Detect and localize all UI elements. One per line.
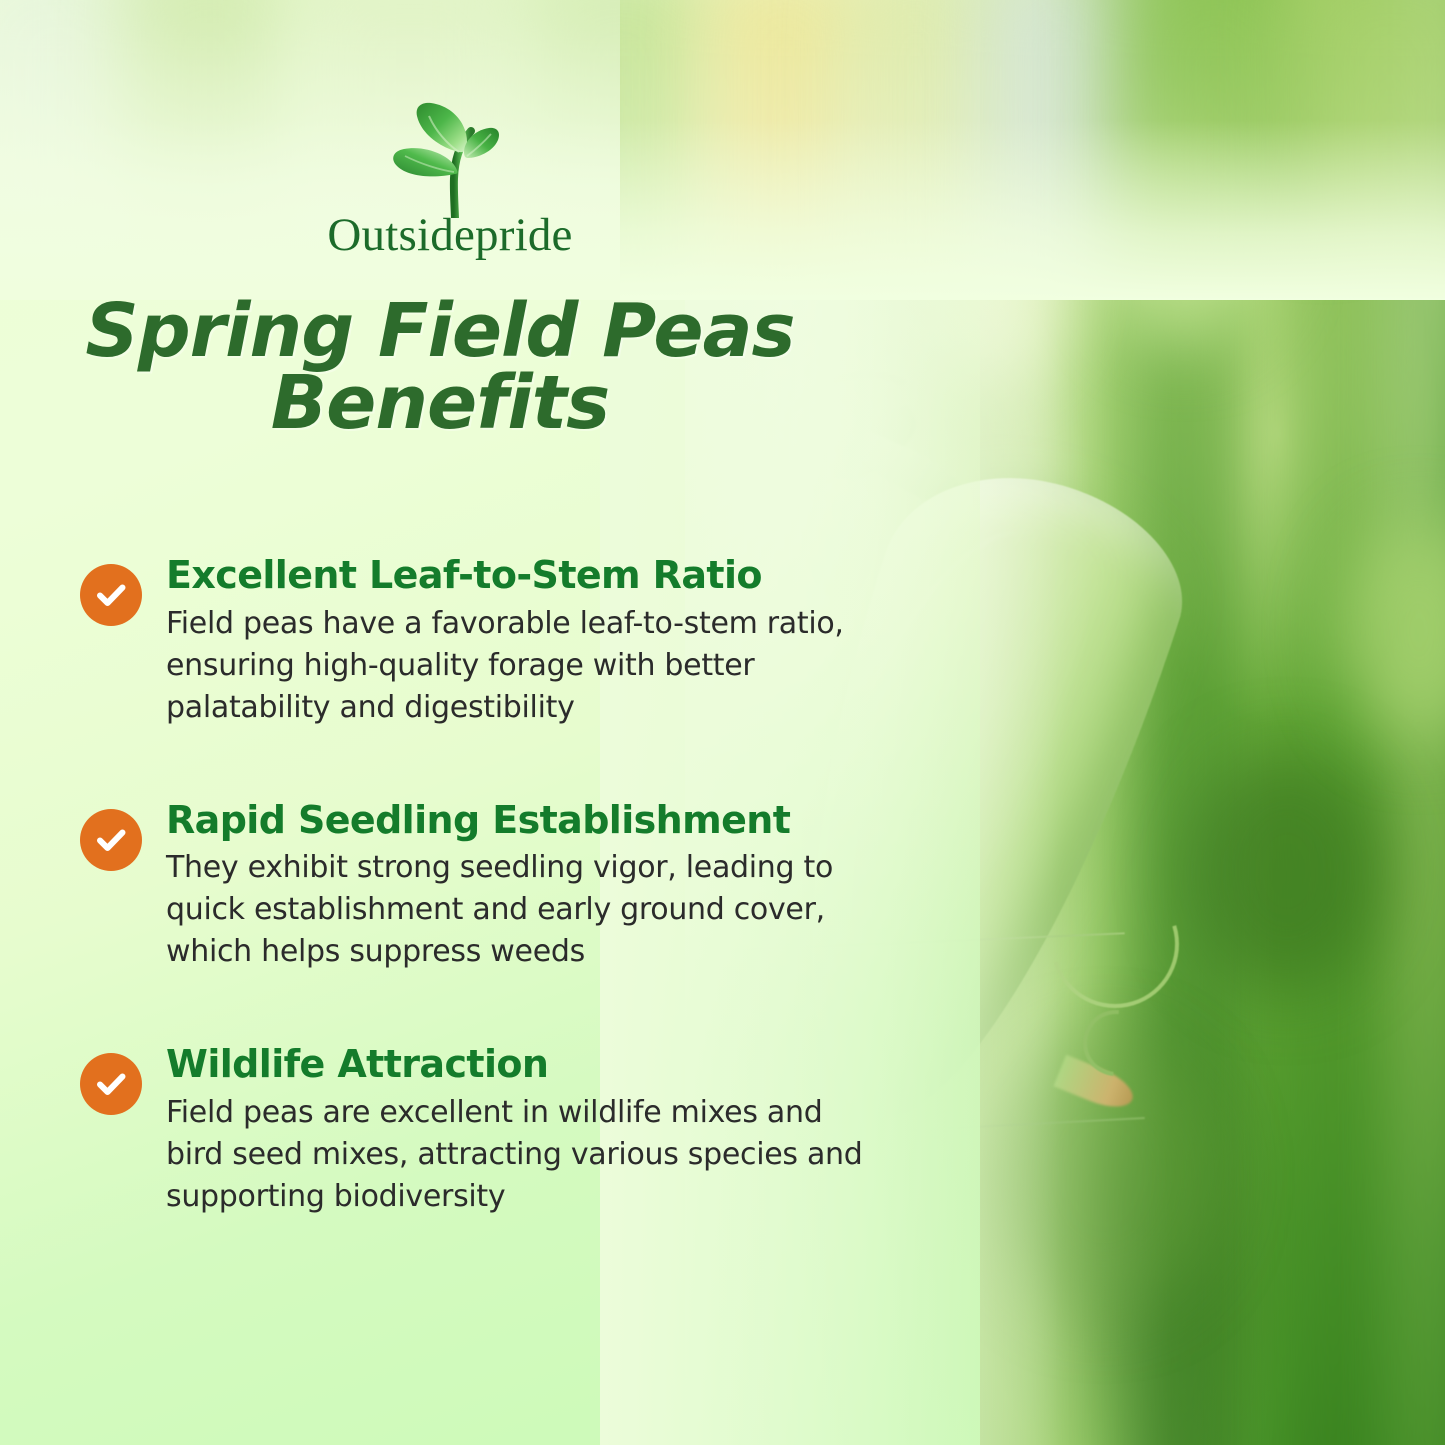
brand-wordmark: Outsidepride (327, 212, 572, 259)
benefit-text: Rapid Seedling Establishment They exhibi… (166, 797, 880, 974)
infographic-canvas: Outsidepride Spring Field Peas Benefits … (0, 0, 1445, 1445)
benefit-body: They exhibit strong seedling vigor, lead… (166, 847, 866, 973)
check-mark-icon (93, 822, 129, 858)
benefit-text: Excellent Leaf-to-Stem Ratio Field peas … (166, 552, 880, 729)
benefit-item: Rapid Seedling Establishment They exhibi… (80, 797, 880, 974)
check-circle-icon (80, 1053, 142, 1115)
benefit-body: Field peas are excellent in wildlife mix… (166, 1092, 866, 1218)
content-layer: Outsidepride Spring Field Peas Benefits … (0, 0, 1445, 1445)
page-title-line-1: Spring Field Peas (0, 296, 880, 368)
page-title: Spring Field Peas Benefits (0, 296, 880, 440)
check-mark-icon (93, 577, 129, 613)
check-circle-icon (80, 564, 142, 626)
seedling-leaves-icon (355, 100, 545, 218)
benefit-heading: Wildlife Attraction (166, 1043, 880, 1086)
benefit-heading: Rapid Seedling Establishment (166, 799, 880, 842)
benefits-list: Excellent Leaf-to-Stem Ratio Field peas … (80, 552, 880, 1218)
benefit-item: Wildlife Attraction Field peas are excel… (80, 1041, 880, 1218)
brand-logo[interactable]: Outsidepride (0, 100, 900, 259)
benefit-body: Field peas have a favorable leaf-to-stem… (166, 603, 866, 729)
check-mark-icon (93, 1066, 129, 1102)
page-title-line-2: Benefits (0, 368, 880, 440)
benefit-item: Excellent Leaf-to-Stem Ratio Field peas … (80, 552, 880, 729)
benefit-text: Wildlife Attraction Field peas are excel… (166, 1041, 880, 1218)
check-circle-icon (80, 809, 142, 871)
benefit-heading: Excellent Leaf-to-Stem Ratio (166, 554, 880, 597)
